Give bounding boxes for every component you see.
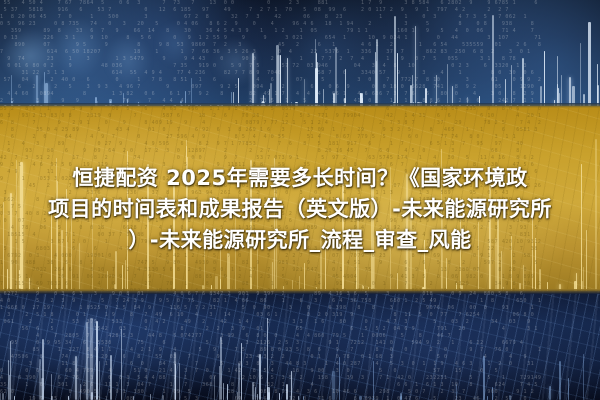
candlestick-spikes-top	[0, 0, 600, 106]
screenshot-stage: 55 4 50 4 7 67 7864 5 0 6 3 7 73 7 13 0 …	[0, 0, 600, 400]
candlestick-spikes-bottom	[0, 291, 600, 400]
candlestick-spikes-gold	[0, 106, 600, 291]
